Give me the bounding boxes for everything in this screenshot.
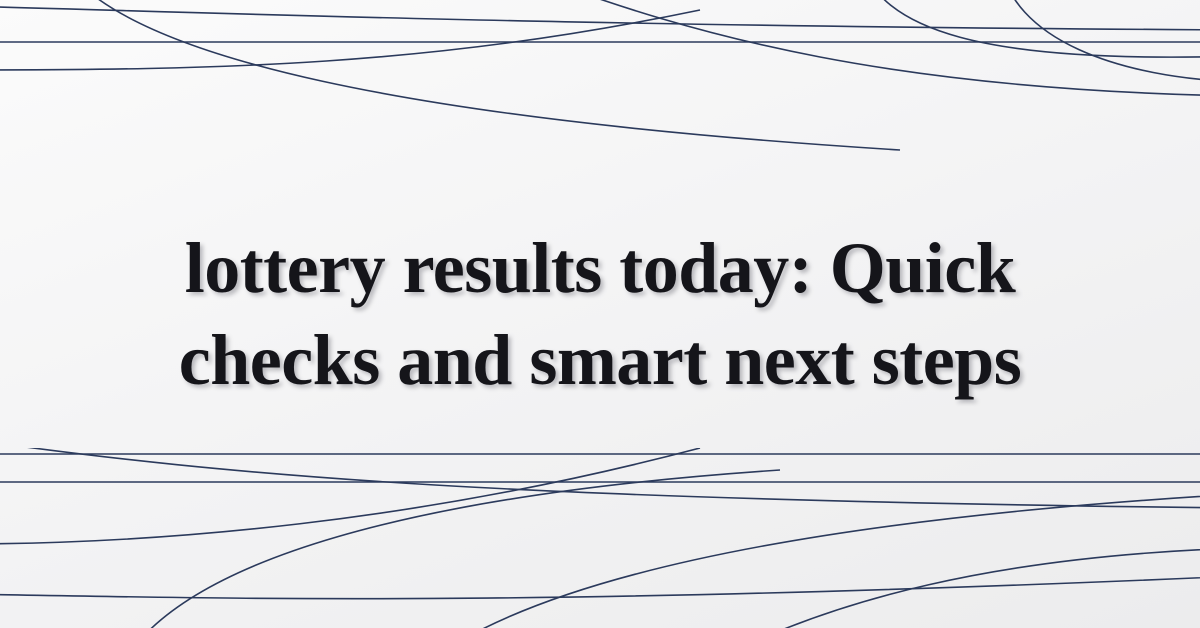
page-title: lottery results today: Quick checks and … <box>120 222 1080 406</box>
title-container: lottery results today: Quick checks and … <box>0 0 1200 628</box>
banner-canvas: lottery results today: Quick checks and … <box>0 0 1200 628</box>
